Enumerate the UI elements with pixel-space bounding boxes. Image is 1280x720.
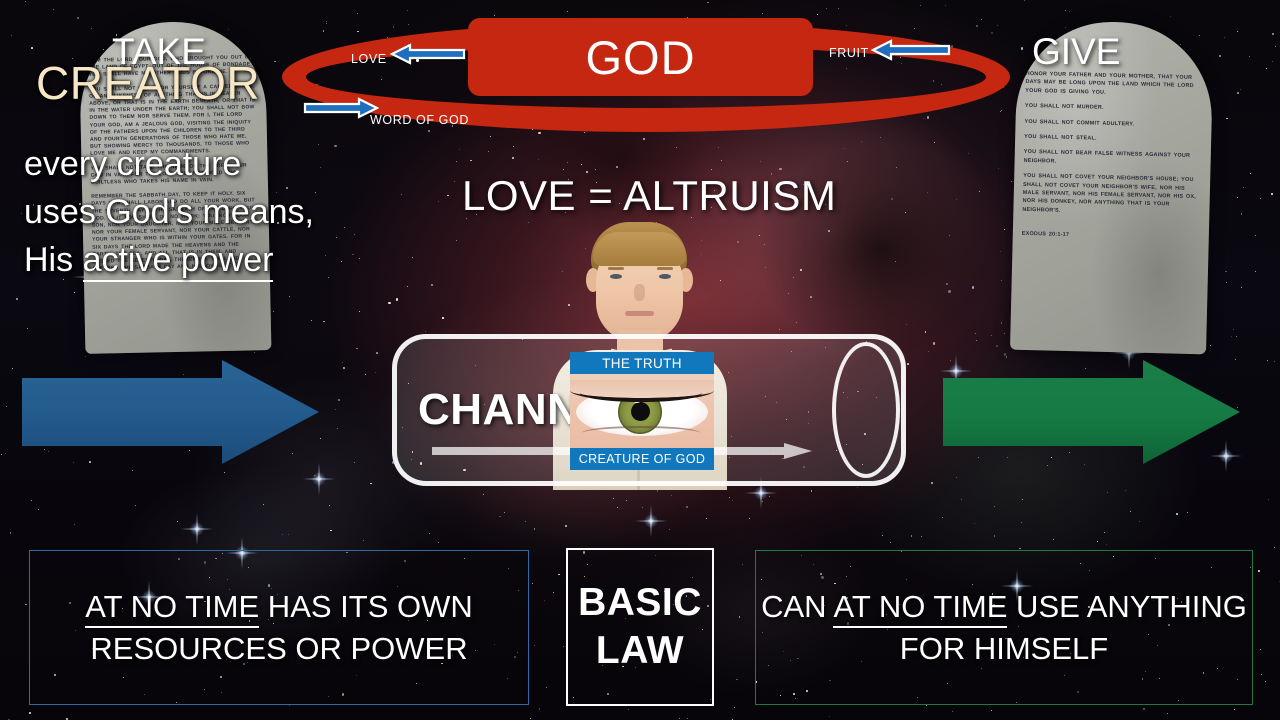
tablet-right-reference: Exodus 20:1-17 [1022,230,1200,243]
left-description-line2: uses God's means, [24,188,314,236]
nose [634,284,645,301]
arrow-left-icon [871,38,951,62]
left-description-line1: every creature [24,140,314,188]
basic-law-line1: BASIC [578,579,702,627]
eye-card-bottom-label: CREATURE OF GOD [570,448,714,470]
tablet-right-paragraph: You shall not steal. [1024,133,1202,146]
loop-label-love: LOVE [351,52,387,66]
cylinder-end-ellipse [832,342,900,478]
bottom-right-text: CAN AT NO TIME USE ANYTHING FOR HIMSELF [761,586,1247,670]
arrow-left-icon [390,42,466,66]
eyebrow-right [657,267,673,270]
eyelashes [580,384,702,402]
bottom-right-line1: CAN AT NO TIME USE ANYTHING [761,586,1247,628]
eye-right [659,274,671,279]
mouth [625,311,654,316]
eye-left [610,274,622,279]
god-label: GOD [468,18,813,96]
bottom-left-line1: AT NO TIME HAS ITS OWN [85,586,473,628]
basic-law-text: BASIC LAW [578,579,702,675]
bottom-left-line1-rest: HAS ITS OWN [259,589,473,624]
take-arrow [22,360,319,464]
bottom-left-line2: RESOURCES OR POWER [85,628,473,670]
channel-label: CHANN [418,385,579,435]
tablet-right-paragraph: You shall not bear false witness against… [1024,148,1202,169]
hair-fringe [593,232,686,266]
give-label: GIVE [1032,0,1120,104]
bottom-right-line2: FOR HIMSELF [761,628,1247,670]
tablet-right-paragraph: You shall not covet your neighbor's hous… [1022,172,1201,218]
eye-lower-lid [582,426,700,440]
human-eye-image [570,374,714,448]
eye-pupil [631,402,650,421]
bottom-box-right: CAN AT NO TIME USE ANYTHING FOR HIMSELF [755,550,1253,705]
equation-love-altruism: LOVE = ALTRUISM [462,172,836,220]
left-description-line3: His active power [24,236,314,284]
bottom-right-emphasis: AT NO TIME [833,589,1007,628]
eyebrow-left [608,267,624,270]
bottom-right-line1-rest: USE ANYTHING [1007,589,1246,624]
bottom-left-text: AT NO TIME HAS ITS OWN RESOURCES OR POWE… [85,586,473,670]
basic-law-line2: LAW [578,627,702,675]
give-arrow [943,360,1240,464]
eye-card-top-label: THE TRUTH [570,352,714,374]
slide-canvas: I am the Lord your God, who brought you … [0,0,1280,720]
left-description-emphasis: active power [83,241,274,282]
left-description-line3-prefix: His [24,241,83,279]
loop-label-fruit: FRUIT [829,46,869,60]
bottom-box-left: AT NO TIME HAS ITS OWN RESOURCES OR POWE… [29,550,529,705]
tablet-right-paragraph: You shall not commit adultery. [1024,117,1202,130]
take-label: TAKE [112,0,206,104]
bottom-left-emphasis: AT NO TIME [85,589,259,628]
left-description: every creature uses God's means, His act… [24,140,314,284]
arrow-right-icon [303,96,379,120]
bottom-right-prefix: CAN [761,589,833,624]
truth-eye-card: THE TRUTH CREATURE OF GOD [570,352,714,470]
bottom-box-basic-law: BASIC LAW [566,548,714,706]
loop-label-word-of-god: WORD OF GOD [370,113,469,127]
